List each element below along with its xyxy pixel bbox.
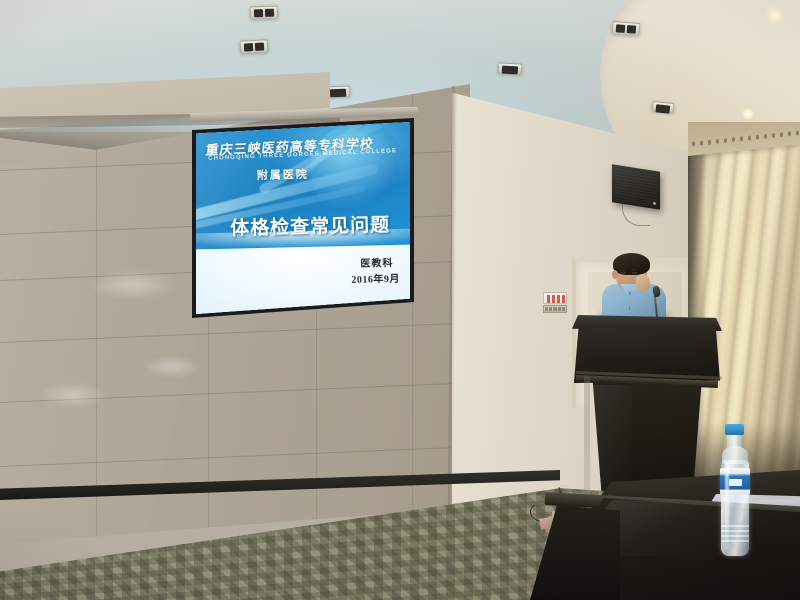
presenter-eye	[632, 272, 637, 274]
wall-mounted-speaker	[612, 164, 660, 210]
slide-department: 医教科	[360, 254, 393, 270]
bottle-highlight	[725, 462, 729, 550]
presenter-eyebrow	[631, 269, 637, 271]
water-bottle[interactable]	[717, 424, 753, 558]
slide-main-title: 体格检查常见问题	[220, 210, 401, 241]
slide-date: 2016年9月	[351, 270, 400, 286]
ceiling-glow-lamp	[742, 108, 754, 120]
ceiling-downlight	[652, 101, 675, 113]
bottle-neck	[727, 434, 742, 448]
speaker-grille	[615, 168, 657, 207]
bottle-cap[interactable]	[725, 424, 744, 435]
ceiling-downlight	[612, 21, 641, 36]
speaker-led-icon	[653, 202, 656, 205]
ceiling-downlight	[250, 6, 278, 20]
podium-side-edge	[584, 377, 590, 498]
presentation-slide: 重庆三峡医药高等专科学校 CHONGQING THREE GORGES MEDI…	[196, 122, 410, 314]
ceiling-downlight	[240, 39, 269, 53]
ceiling-glow-lamp	[766, 6, 784, 24]
projection-screen[interactable]: 重庆三峡医药高等专科学校 CHONGQING THREE GORGES MEDI…	[196, 122, 410, 314]
wall-notice-plaque	[543, 292, 567, 304]
podium-highlight	[592, 385, 632, 495]
presenter-ear	[612, 270, 618, 279]
slide-logo-subtitle: 附属医院	[256, 166, 308, 183]
light-switch-panel[interactable]	[543, 305, 567, 313]
presenter-eye	[621, 272, 626, 274]
ceiling-downlight	[498, 62, 523, 74]
presenter-eyebrow	[620, 269, 626, 271]
photo-scene: 重庆三峡医药高等专科学校 CHONGQING THREE GORGES MEDI…	[0, 0, 800, 600]
